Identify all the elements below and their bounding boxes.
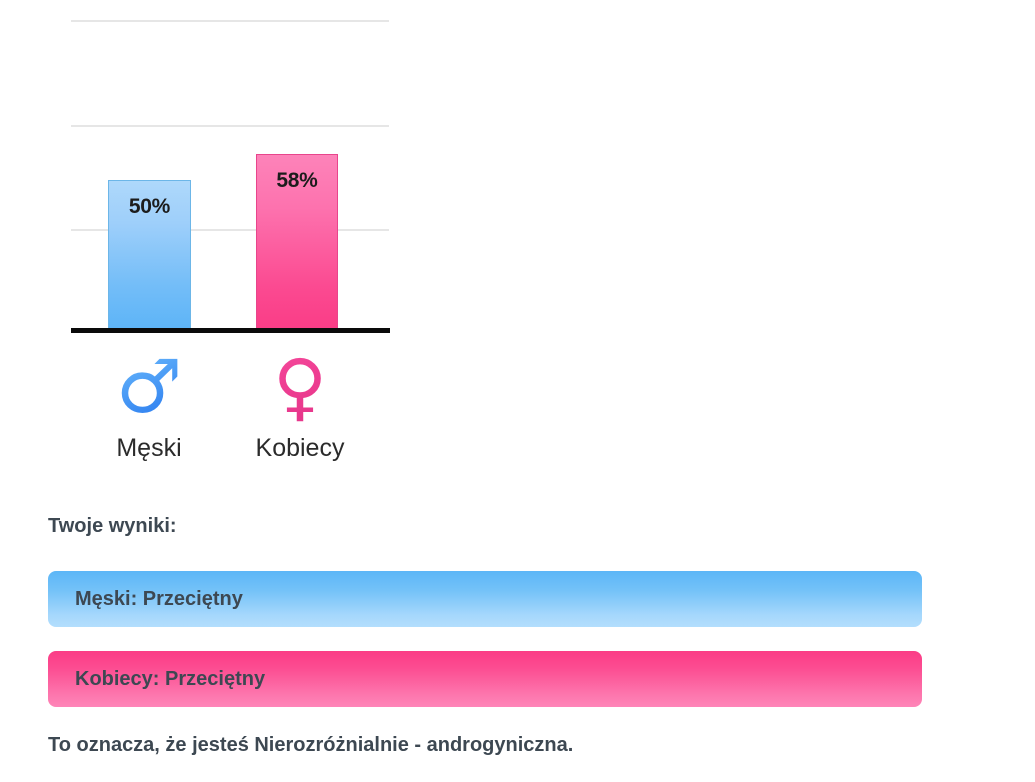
legend-item-male: ♂ Męski [79,352,219,463]
legend-label-male: Męski [79,434,219,463]
result-bar-female: Kobiecy: Przeciętny [48,651,922,707]
chart-baseline-axis [71,328,390,333]
result-label-male: Męski: Przeciętny [48,588,243,611]
result-bar-male: Męski: Przeciętny [48,571,922,627]
chart-gridline-top [71,20,389,22]
gender-bar-chart: 50% 58% [0,0,420,345]
male-symbol-icon: ♂ [79,352,219,422]
bar-value-male: 50% [109,195,190,219]
female-symbol-icon: ♀ [230,352,370,422]
results-conclusion: To oznacza, że jesteś Nierozróżnialnie -… [48,734,573,757]
legend-item-female: ♀ Kobiecy [230,352,370,463]
bar-female: 58% [256,154,338,332]
bar-value-female: 58% [257,169,337,193]
chart-gridline-middle [71,125,389,127]
result-label-female: Kobiecy: Przeciętny [48,668,265,691]
legend-label-female: Kobiecy [230,434,370,463]
results-title: Twoje wyniki: [48,515,177,538]
bar-male: 50% [108,180,191,332]
chart-legend: ♂ Męski ♀ Kobiecy [0,352,420,477]
